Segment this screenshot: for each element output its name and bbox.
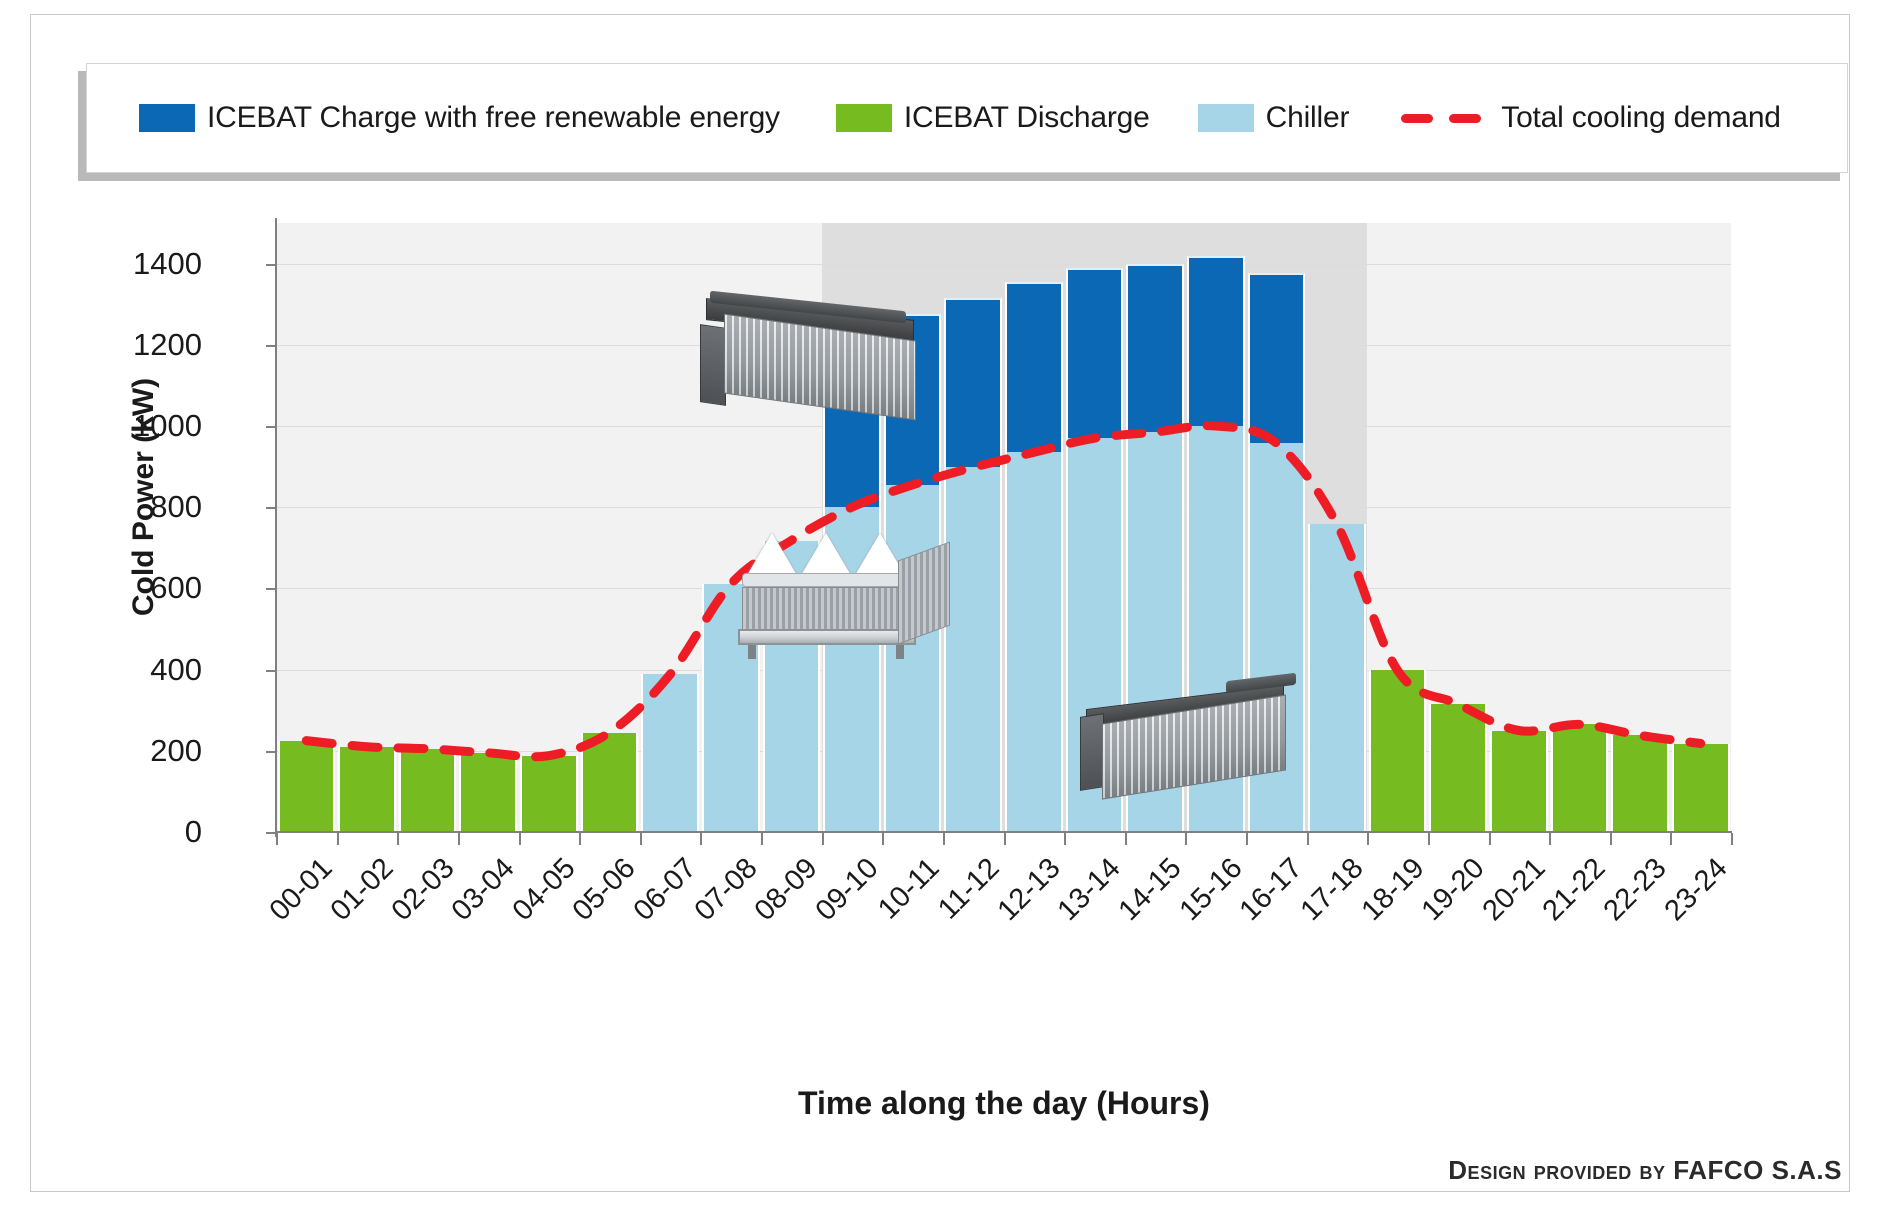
bar-column-12-13[interactable] xyxy=(1004,223,1065,832)
bar-column-04-05[interactable] xyxy=(519,223,580,832)
legend-label-chiller: Chiller xyxy=(1266,101,1350,135)
x-tick-mark-12 xyxy=(1004,833,1006,845)
legend-dashed-line-icon xyxy=(1401,104,1487,132)
x-tick-mark-6 xyxy=(640,833,642,845)
bar-segment-discharge-05-06[interactable] xyxy=(581,733,639,832)
bar-segment-chiller-17-18[interactable] xyxy=(1308,524,1366,832)
bar-segment-charge-16-17[interactable] xyxy=(1248,273,1306,444)
bar-column-22-23[interactable] xyxy=(1610,223,1671,832)
bar-column-03-04[interactable] xyxy=(458,223,519,832)
y-tick-mark-1000 xyxy=(266,426,277,428)
x-tick-mark-17 xyxy=(1307,833,1309,845)
y-tick-label-1000: 1000 xyxy=(62,408,202,444)
bar-column-01-02[interactable] xyxy=(337,223,398,832)
y-axis-line xyxy=(275,218,277,837)
x-tick-mark-1 xyxy=(337,833,339,845)
y-tick-mark-800 xyxy=(266,507,277,509)
x-tick-mark-13 xyxy=(1064,833,1066,845)
bar-column-21-22[interactable] xyxy=(1549,223,1610,832)
icebat-container-top-image xyxy=(694,293,939,438)
chiller-fan-deck xyxy=(742,573,910,587)
x-tick-mark-10 xyxy=(882,833,884,845)
x-tick-mark-19 xyxy=(1428,833,1430,845)
bar-segment-chiller-12-13[interactable] xyxy=(1005,452,1063,832)
bar-segment-discharge-22-23[interactable] xyxy=(1611,735,1669,832)
y-tick-label-400: 400 xyxy=(62,652,202,688)
container-end-panel xyxy=(700,324,726,406)
bar-segment-discharge-02-03[interactable] xyxy=(399,749,457,832)
design-credit: Design provided by FAFCO S.A.S xyxy=(1448,1155,1842,1186)
x-tick-mark-3 xyxy=(458,833,460,845)
bar-segment-discharge-23-24[interactable] xyxy=(1672,744,1730,833)
x-tick-mark-21 xyxy=(1549,833,1551,845)
x-tick-mark-14 xyxy=(1125,833,1127,845)
y-tick-mark-1400 xyxy=(266,264,277,266)
chart-frame: ICEBAT Charge with free renewable energy… xyxy=(30,14,1850,1192)
x-tick-mark-23 xyxy=(1670,833,1672,845)
y-tick-mark-1200 xyxy=(266,345,277,347)
chiller-chassis xyxy=(738,629,916,645)
y-tick-mark-200 xyxy=(266,751,277,753)
x-tick-mark-16 xyxy=(1246,833,1248,845)
container-end-panel xyxy=(1080,713,1104,791)
legend-item-chiller[interactable]: Chiller xyxy=(1198,101,1350,135)
bar-column-02-03[interactable] xyxy=(397,223,458,832)
x-tick-mark-0 xyxy=(276,833,278,845)
bar-segment-discharge-18-19[interactable] xyxy=(1369,670,1427,832)
x-tick-mark-24 xyxy=(1731,833,1733,845)
bar-segment-discharge-00-01[interactable] xyxy=(278,741,336,832)
bar-column-05-06[interactable] xyxy=(579,223,640,832)
bar-series-group xyxy=(276,223,1731,832)
legend-label-icebat-discharge: ICEBAT Discharge xyxy=(904,101,1150,135)
chiller-fan-1 xyxy=(746,533,798,577)
bar-segment-discharge-03-04[interactable] xyxy=(459,753,517,832)
y-tick-mark-600 xyxy=(266,588,277,590)
bar-column-19-20[interactable] xyxy=(1428,223,1489,832)
x-tick-mark-20 xyxy=(1489,833,1491,845)
x-tick-mark-18 xyxy=(1367,833,1369,845)
chart-canvas: Cold Power (kW) 020040060080010001200140… xyxy=(86,190,1848,1190)
y-tick-label-600: 600 xyxy=(62,570,202,606)
bar-column-00-01[interactable] xyxy=(276,223,337,832)
x-tick-mark-11 xyxy=(943,833,945,845)
icebat-container-bottom-image xyxy=(1076,675,1306,815)
bar-segment-discharge-20-21[interactable] xyxy=(1490,731,1548,833)
bar-segment-discharge-04-05[interactable] xyxy=(520,756,578,832)
x-tick-mark-22 xyxy=(1610,833,1612,845)
y-tick-mark-400 xyxy=(266,670,277,672)
bar-segment-discharge-01-02[interactable] xyxy=(338,747,396,832)
x-tick-mark-15 xyxy=(1185,833,1187,845)
legend-item-total-cooling-demand[interactable]: Total cooling demand xyxy=(1401,101,1781,135)
bar-segment-discharge-21-22[interactable] xyxy=(1551,724,1609,832)
legend-swatch-icebat-charge xyxy=(139,104,195,132)
bar-column-18-19[interactable] xyxy=(1367,223,1428,832)
y-tick-label-1400: 1400 xyxy=(62,246,202,282)
chiller-unit-image xyxy=(738,533,956,661)
y-tick-label-800: 800 xyxy=(62,489,202,525)
bar-segment-charge-13-14[interactable] xyxy=(1066,268,1124,438)
bar-column-06-07[interactable] xyxy=(640,223,701,832)
bar-column-20-21[interactable] xyxy=(1489,223,1550,832)
plot-area xyxy=(276,223,1731,832)
legend-label-icebat-charge: ICEBAT Charge with free renewable energy xyxy=(207,101,780,135)
legend-label-total-cooling-demand: Total cooling demand xyxy=(1501,101,1781,135)
x-axis-title: Time along the day (Hours) xyxy=(276,1085,1732,1122)
legend-swatch-chiller xyxy=(1198,104,1254,132)
bar-segment-charge-12-13[interactable] xyxy=(1005,282,1063,453)
x-tick-mark-9 xyxy=(822,833,824,845)
chart-legend: ICEBAT Charge with free renewable energy… xyxy=(86,63,1848,173)
chiller-condenser-coil xyxy=(742,587,910,635)
bar-column-23-24[interactable] xyxy=(1670,223,1731,832)
bar-segment-charge-15-16[interactable] xyxy=(1187,256,1245,426)
x-tick-mark-7 xyxy=(700,833,702,845)
bar-column-17-18[interactable] xyxy=(1307,223,1368,832)
legend-item-icebat-discharge[interactable]: ICEBAT Discharge xyxy=(836,101,1150,135)
y-tick-label-1200: 1200 xyxy=(62,327,202,363)
chiller-leg-left xyxy=(748,645,756,659)
bar-segment-chiller-06-07[interactable] xyxy=(641,674,699,832)
bar-column-11-12[interactable] xyxy=(943,223,1004,832)
x-tick-mark-4 xyxy=(519,833,521,845)
bar-segment-charge-14-15[interactable] xyxy=(1126,264,1184,432)
x-tick-mark-2 xyxy=(397,833,399,845)
bar-segment-discharge-19-20[interactable] xyxy=(1429,704,1487,832)
legend-swatch-icebat-discharge xyxy=(836,104,892,132)
chiller-rear-coil xyxy=(898,542,950,645)
chiller-fan-2 xyxy=(800,533,852,577)
bar-segment-charge-11-12[interactable] xyxy=(944,298,1002,468)
x-tick-mark-5 xyxy=(579,833,581,845)
y-tick-label-200: 200 xyxy=(62,733,202,769)
chiller-leg-right xyxy=(896,645,904,659)
legend-item-icebat-charge[interactable]: ICEBAT Charge with free renewable energy xyxy=(139,101,780,135)
x-tick-mark-8 xyxy=(761,833,763,845)
y-tick-label-0: 0 xyxy=(62,814,202,850)
